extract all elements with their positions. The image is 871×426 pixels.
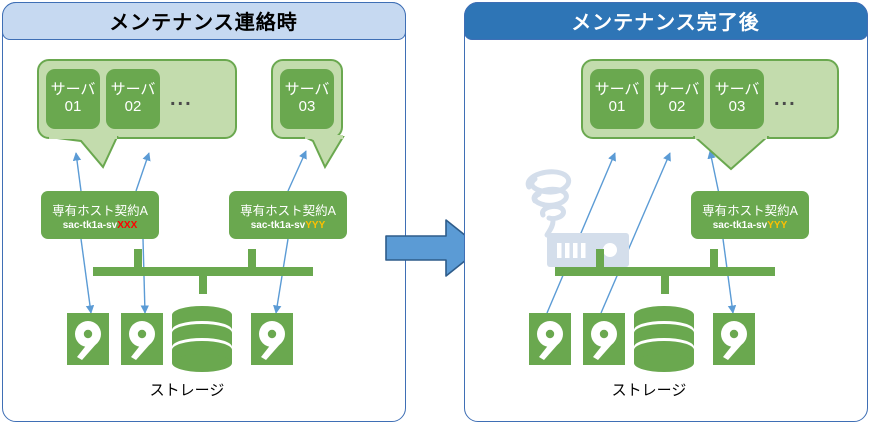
panel-title-after: メンテナンス完了後 [464,2,868,40]
bus-stub-down-center [661,274,669,294]
contract-id: sac-tk1a-svYYY [713,220,788,231]
bus-stub-down-center [199,274,207,294]
server-card[interactable]: サーバ 02 [106,69,160,129]
storage-label: ストレージ [569,379,729,400]
ellipsis-icon: ... [166,88,197,111]
server-card[interactable]: サーバ 03 [710,69,764,129]
disk-icon [583,313,625,365]
bubble-tail-a [693,135,773,173]
bubble-servers-group-a[interactable]: サーバ 01 サーバ 02 ... [37,59,237,139]
diagram-canvas: メンテナンス連絡時 [0,0,871,426]
contract-box[interactable]: 専有ホスト契約A sac-tk1a-svYYY [691,191,809,239]
disk-icon [713,313,755,365]
contract-box[interactable]: 専有ホスト契約A sac-tk1a-svXXX [41,191,159,239]
contract-id: sac-tk1a-svXXX [63,220,138,231]
database-icon [171,305,233,373]
server-card[interactable]: サーバ 01 [590,69,644,129]
disk-icon [121,313,163,365]
storage-label: ストレージ [107,379,267,400]
contract-id: sac-tk1a-svYYY [251,220,326,231]
contract-box[interactable]: 専有ホスト契約A sac-tk1a-svYYY [229,191,347,239]
bubble-tail-b [303,135,351,171]
bus-stub-up-right [710,249,718,269]
bus-stub-up-left [134,249,142,269]
bubble-servers-group-b[interactable]: サーバ 03 [271,59,343,139]
bus-stub-up-left [596,249,604,269]
server-card[interactable]: サーバ 03 [280,69,334,129]
server-card[interactable]: サーバ 02 [650,69,704,129]
disk-icon [67,313,109,365]
decommissioned-host-icon [513,161,633,269]
bubble-servers-group-a[interactable]: サーバ 01 サーバ 02 サーバ 03 ... [581,59,839,139]
database-icon [633,305,695,373]
panel-before-maintenance: メンテナンス連絡時 [2,2,406,422]
server-card[interactable]: サーバ 01 [46,69,100,129]
bubble-tail-a [47,135,127,171]
panel-body-before: サーバ 01 サーバ 02 ... サーバ 03 [3,41,407,423]
ellipsis-icon: ... [770,88,801,111]
disk-icon [251,313,293,365]
panel-after-maintenance: メンテナンス完了後 [464,2,868,422]
bus-stub-up-right [248,249,256,269]
panel-body-after: サーバ 01 サーバ 02 サーバ 03 ... 専有ホスト契約A [465,41,869,423]
panel-title-before: メンテナンス連絡時 [2,2,406,40]
disk-icon [529,313,571,365]
